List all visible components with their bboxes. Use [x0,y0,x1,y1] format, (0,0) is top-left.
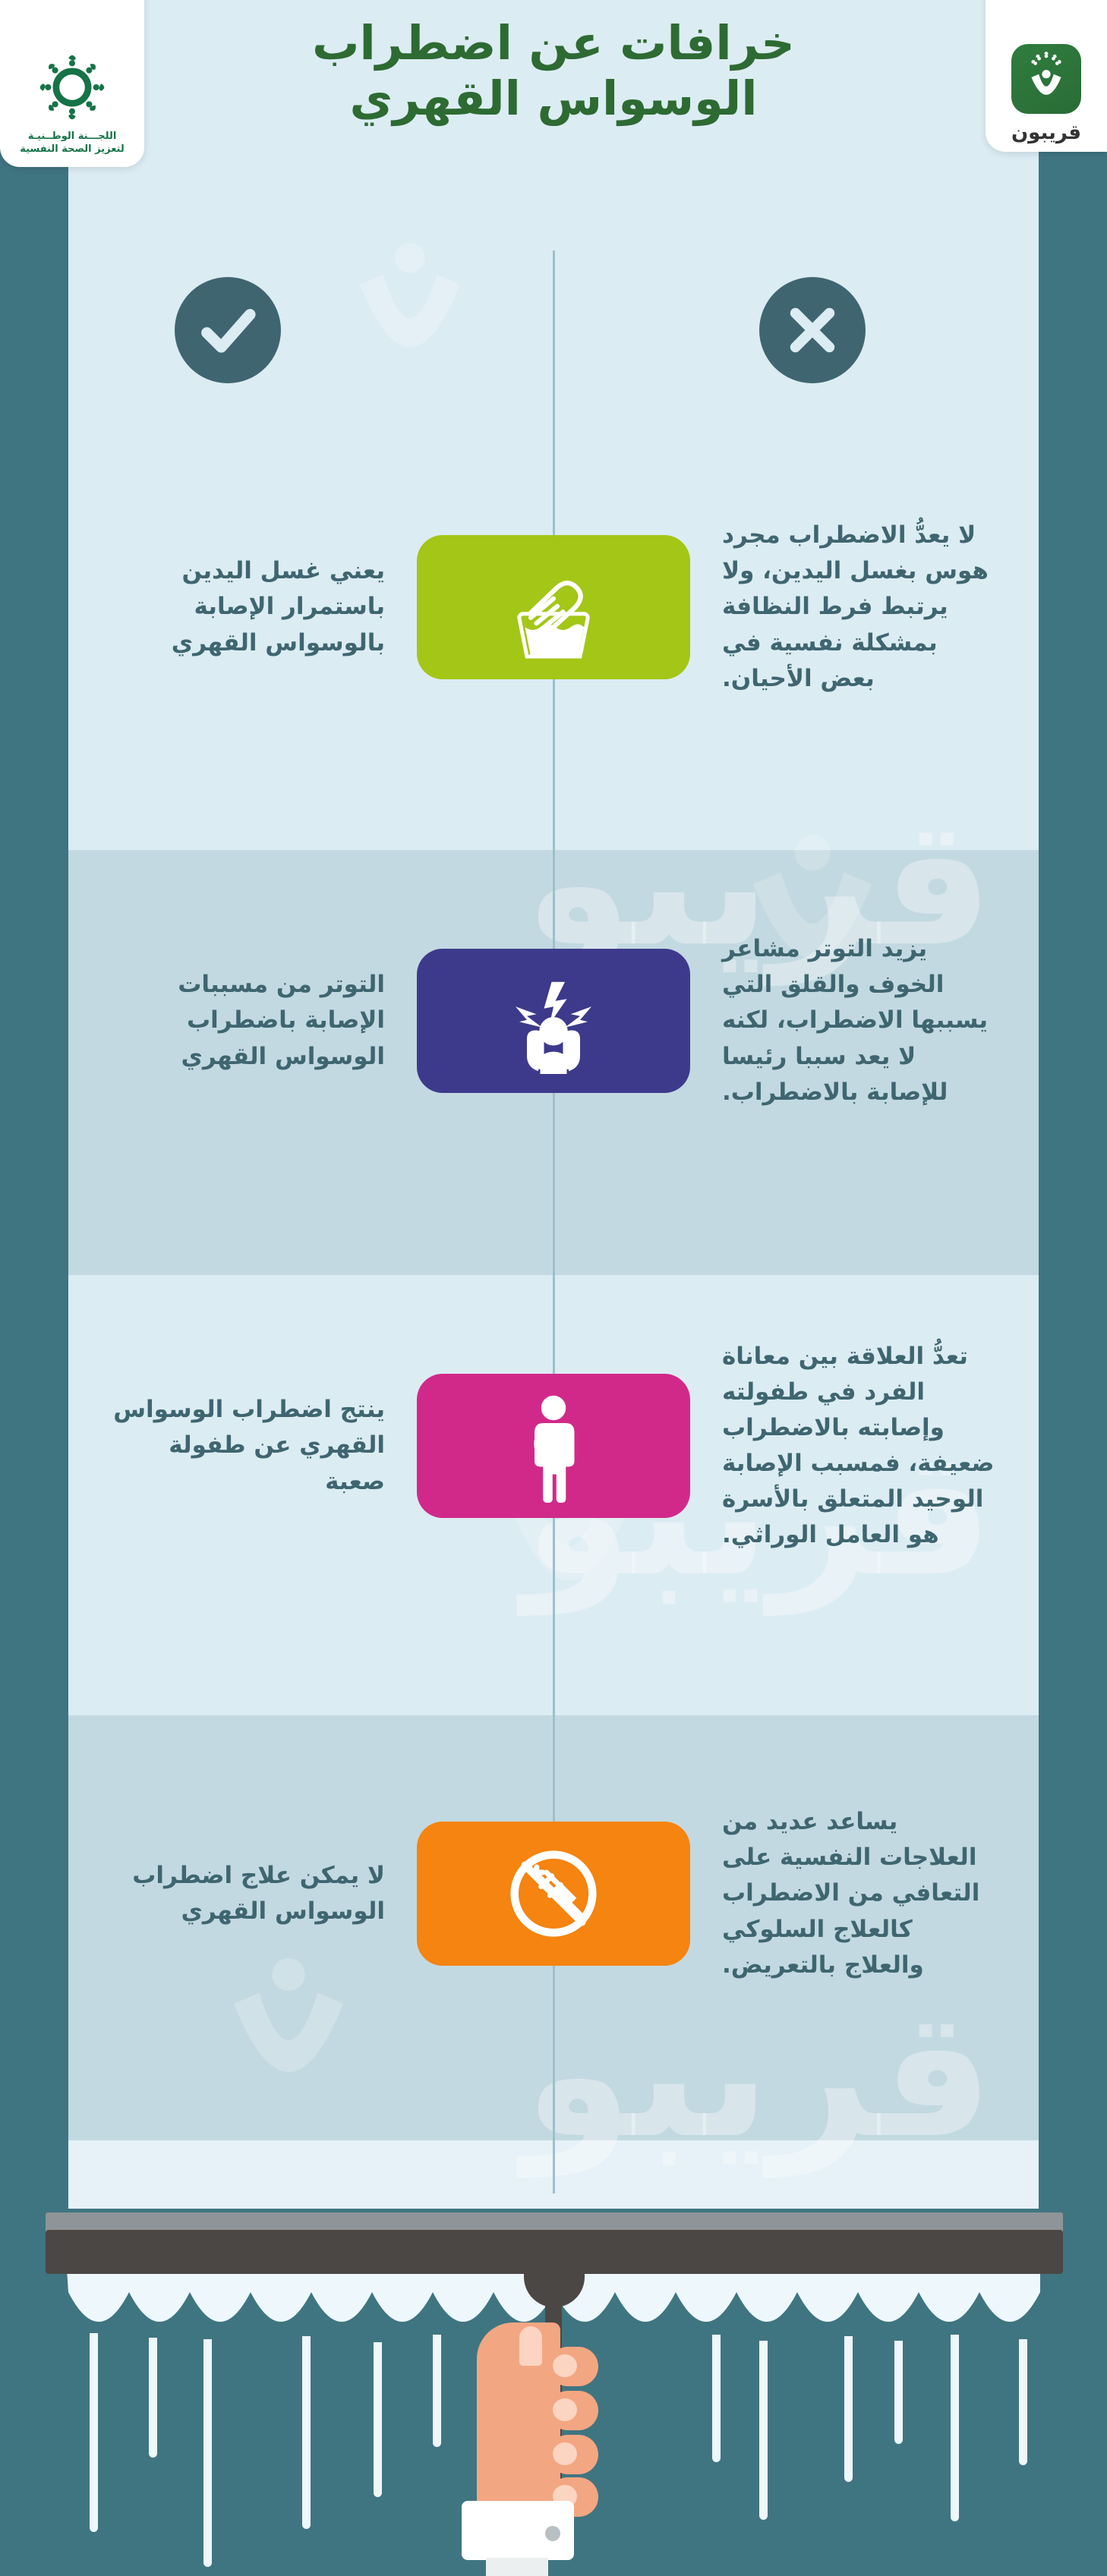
no-syringe-glyph-icon [497,1841,610,1947]
page-title: خرافات عن اضطراب الوسواس القهري [190,15,917,126]
national-committee-logo: اللجـــنة الوطــنيـة لتعزيز الصحة النفسي… [0,0,144,167]
finger [548,2391,598,2430]
infographic-page: قريبو قريبو قريبو [0,0,1107,2576]
row-stress: يزيد التوتر مشاعر الخوف والقلق التي يسبب… [68,873,1039,1169]
people-circle-logo-icon [36,51,109,124]
forearm [486,2558,548,2576]
child-standing-icon [417,1374,690,1518]
check-circle-icon [175,277,281,383]
cuff-button [545,2526,560,2541]
fingernail [553,2354,577,2377]
fingernail [553,2398,577,2421]
x-circle-icon [759,277,866,383]
page-title-line-1: خرافات عن اضطراب [190,15,917,71]
qareeboon-logo: قريبون [986,0,1107,152]
page-title-line-2: الوسواس القهري [190,71,917,126]
handwashing-glyph-icon [497,554,610,660]
qareeboon-app-name: قريبون [1011,121,1081,144]
no-syringe-icon [417,1822,690,1966]
row-handwashing: لا يعدُّ الاضطراب مجرد هوس بغسل اليدين، … [68,459,1039,755]
row-treatment: يساعد عديد من العلاجات النفسية على التعا… [68,1746,1039,2042]
finger [548,2435,598,2474]
myth-text: لا يمكن علاج اضطراب الوسواس القهري [89,1858,408,1929]
logo-line-2: لتعزيز الصحة النفسية [20,143,124,156]
myth-text: يعني غسل اليدين باستمرار الإصابة بالوسوا… [89,553,408,660]
myth-text: التوتر من مسببات الإصابة باضطراب الوسواس… [89,967,408,1074]
thumb-tip [519,2326,542,2366]
fact-text: يساعد عديد من العلاجات النفسية على التعا… [699,1804,1018,1983]
fingernail [553,2442,577,2465]
x-icon [782,300,843,361]
qareeboon-app-icon [1011,44,1081,114]
fact-text: يزيد التوتر مشاعر الخوف والقلق التي يسبب… [699,931,1018,1110]
stress-glyph-icon [497,968,610,1074]
fact-text: تعدُّ العلاقة بين معاناة الفرد في طفولته… [699,1339,1018,1554]
myth-text: ينتج اضطراب الوسواس القهري عن طفولة صعبة [89,1392,408,1499]
fact-text: لا يعدُّ الاضطراب مجرد هوس بغسل اليدين، … [699,518,1018,697]
row-childhood: تعدُّ العلاقة بين معاناة الفرد في طفولته… [68,1283,1039,1609]
finger [548,2347,598,2386]
check-icon [195,298,260,363]
handwashing-basin-icon [417,535,690,679]
child-glyph-icon [497,1389,610,1503]
squeegee-footer [0,2140,1107,2576]
logo-line-1: اللجـــنة الوطــنيـة [20,130,124,143]
qareeboon-glyph-icon [1020,49,1073,109]
stressed-person-lightning-icon [417,949,690,1093]
